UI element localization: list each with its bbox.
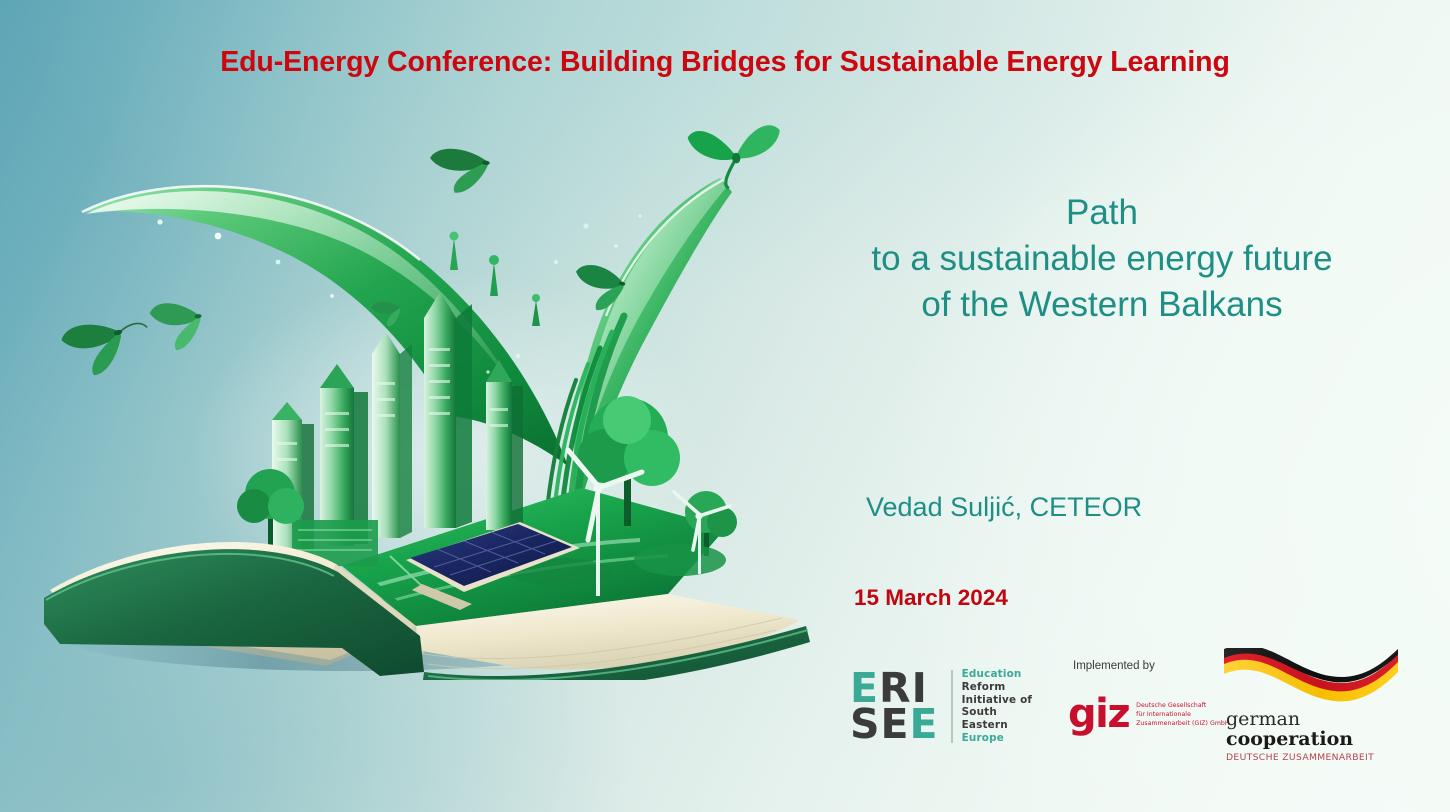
butterfly — [59, 310, 155, 381]
erisee-wordmark-row-2: S E E — [850, 706, 939, 742]
butterfly — [687, 123, 785, 193]
giz-lockup: giz Deutsche Gesellschaft für Internatio… — [1068, 699, 1243, 730]
giz-logo: Implemented by giz Deutsche Gesellschaft… — [1068, 660, 1243, 730]
erisee-word-education: Education — [962, 668, 1033, 681]
erisee-wordmark: E R I S E E — [850, 670, 939, 742]
butterfly — [427, 146, 491, 196]
giz-tagline-line-2: für Internationale — [1136, 711, 1229, 720]
heading-line-2: to a sustainable energy future — [782, 236, 1422, 282]
german-cooperation-logo: german cooperation DEUTSCHE ZUSAMMENARBE… — [1218, 648, 1408, 763]
german-cooperation-line-3: DEUTSCHE ZUSAMMENARBEIT — [1226, 752, 1408, 763]
presentation-slide: Edu-Energy Conference: Building Bridges … — [0, 0, 1450, 812]
erisee-word-reform: Reform — [962, 681, 1033, 694]
heading-line-1: Path — [782, 190, 1422, 236]
erisee-letter-s: S — [850, 706, 881, 742]
logo-row: E R I S E E Education Reform Initiative … — [840, 650, 1420, 780]
presentation-date: 15 March 2024 — [854, 585, 1008, 611]
german-cooperation-line-1: german — [1226, 710, 1408, 729]
erisee-letter-e2: E — [881, 706, 910, 742]
erisee-letter-e3: E — [910, 706, 939, 742]
giz-tagline: Deutsche Gesellschaft für Internationale… — [1136, 702, 1229, 729]
butterfly — [149, 299, 206, 354]
german-cooperation-text: german cooperation DEUTSCHE ZUSAMMENARBE… — [1226, 710, 1408, 763]
erisee-word-south: South — [962, 706, 1033, 719]
giz-wordmark: giz — [1068, 699, 1129, 730]
conference-title: Edu-Energy Conference: Building Bridges … — [0, 46, 1450, 79]
erisee-word-eastern: Eastern — [962, 719, 1033, 732]
main-heading: Path to a sustainable energy future of t… — [782, 190, 1422, 329]
erisee-word-initiative: Initiative of — [962, 694, 1033, 707]
erisee-divider — [951, 670, 953, 743]
giz-tagline-line-1: Deutsche Gesellschaft — [1136, 702, 1229, 711]
heading-line-3: of the Western Balkans — [782, 282, 1422, 328]
book-illustration — [20, 120, 820, 680]
erisee-word-europe: Europe — [962, 732, 1033, 745]
german-cooperation-line-2: cooperation — [1226, 729, 1408, 750]
german-flag-ribbon-icon — [1218, 648, 1403, 710]
giz-tagline-line-3: Zusammenarbeit (GIZ) GmbH — [1136, 720, 1229, 729]
presenter-name: Vedad Suljić, CETEOR — [866, 492, 1142, 523]
erisee-logo: E R I S E E Education Reform Initiative … — [850, 668, 1032, 745]
erisee-fullname: Education Reform Initiative of South Eas… — [962, 668, 1033, 745]
